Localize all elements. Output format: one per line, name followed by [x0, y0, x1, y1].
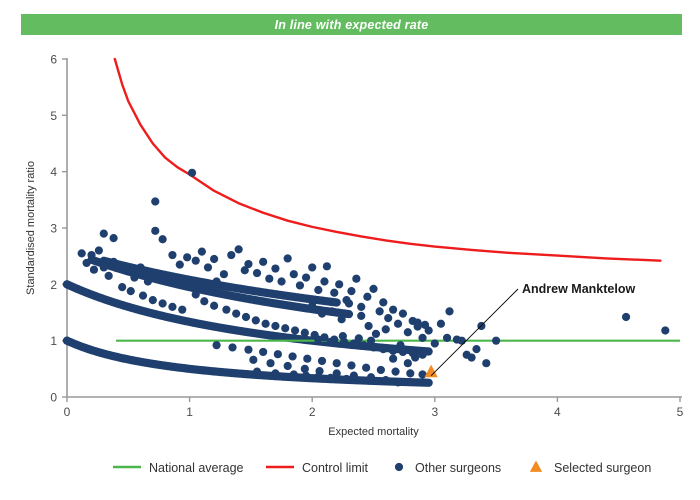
scatter-point[interactable]	[303, 355, 311, 363]
chart-legend: National averageControl limitOther surge…	[113, 461, 651, 476]
y-tick-label: 6	[50, 53, 57, 67]
scatter-point[interactable]	[437, 320, 445, 328]
control-limit-curve	[115, 59, 661, 261]
scatter-point[interactable]	[124, 266, 132, 274]
scatter-point[interactable]	[389, 306, 397, 314]
scatter-point[interactable]	[458, 337, 466, 345]
scatter-point[interactable]	[242, 313, 250, 321]
scatter-point[interactable]	[418, 334, 426, 342]
scatter-point[interactable]	[198, 248, 206, 256]
scatter-point[interactable]	[411, 353, 419, 361]
scatter-point[interactable]	[188, 169, 196, 177]
scatter-point[interactable]	[367, 373, 375, 381]
legend-item[interactable]: Control limit	[266, 461, 369, 475]
scatter-point[interactable]	[271, 322, 279, 330]
scatter-point[interactable]	[249, 356, 257, 364]
scatter-point[interactable]	[271, 264, 279, 272]
scatter-point[interactable]	[347, 287, 355, 295]
scatter-point[interactable]	[389, 347, 397, 355]
scatter-point[interactable]	[391, 368, 399, 376]
scatter-point[interactable]	[178, 306, 186, 314]
legend-item-label: Control limit	[302, 461, 369, 475]
scatter-point[interactable]	[399, 310, 407, 318]
scatter-point[interactable]	[335, 280, 343, 288]
scatter-bands	[67, 260, 429, 383]
scatter-point[interactable]	[63, 280, 71, 288]
scatter-point[interactable]	[244, 346, 252, 354]
scatter-point[interactable]	[176, 261, 184, 269]
scatter-point[interactable]	[326, 338, 334, 346]
scatter-point[interactable]	[95, 246, 103, 254]
scatter-point[interactable]	[222, 306, 230, 314]
scatter-point[interactable]	[308, 263, 316, 271]
scatter-point[interactable]	[271, 369, 279, 377]
x-tick-label: 0	[64, 405, 71, 419]
scatter-point[interactable]	[266, 359, 274, 367]
scatter-point[interactable]	[168, 303, 176, 311]
scatter-point[interactable]	[414, 319, 422, 327]
annotation-leader-line	[431, 289, 518, 376]
scatter-point[interactable]	[318, 357, 326, 365]
scatter-point[interactable]	[244, 260, 252, 268]
scatter-point[interactable]	[136, 263, 144, 271]
scatter-point[interactable]	[259, 258, 267, 266]
scatter-point[interactable]	[127, 287, 135, 295]
x-tick-label: 4	[554, 405, 561, 419]
scatter-point[interactable]	[467, 353, 475, 361]
scatter-point[interactable]	[210, 255, 218, 263]
scatter-point[interactable]	[362, 364, 370, 372]
scatter-point[interactable]	[394, 378, 402, 386]
scatter-point[interactable]	[382, 325, 390, 333]
scatter-point[interactable]	[328, 307, 336, 315]
scatter-point[interactable]	[389, 355, 397, 363]
annotation-callout: Andrew Manktelow	[431, 282, 635, 376]
y-tick-label: 2	[50, 278, 57, 292]
scatter-point[interactable]	[369, 285, 377, 293]
scatter-point[interactable]	[472, 345, 480, 353]
scatter-point[interactable]	[212, 341, 220, 349]
y-tick-label: 4	[50, 165, 57, 179]
scatter-point[interactable]	[274, 350, 282, 358]
scatter-point[interactable]	[443, 334, 451, 342]
x-axis-title: Expected mortality	[328, 426, 419, 438]
scatter-point[interactable]	[168, 251, 176, 259]
scatter-point[interactable]	[492, 337, 500, 345]
legend-item[interactable]: National average	[113, 461, 244, 475]
scatter-point[interactable]	[314, 335, 322, 343]
scatter-point[interactable]	[345, 299, 353, 307]
scatter-point[interactable]	[314, 373, 322, 381]
scatter-point[interactable]	[308, 302, 316, 310]
scatter-point[interactable]	[367, 337, 375, 345]
y-tick-label: 1	[50, 334, 57, 348]
scatter-point[interactable]	[232, 310, 240, 318]
scatter-point[interactable]	[360, 341, 368, 349]
scatter-point[interactable]	[78, 249, 86, 257]
scatter-point[interactable]	[204, 263, 212, 271]
scatter-point[interactable]	[290, 370, 298, 378]
chart-svg: 0123456012345Expected mortalityStandardi…	[0, 0, 700, 500]
scatter-point[interactable]	[149, 296, 157, 304]
scatter-point[interactable]	[265, 275, 273, 283]
scatter-point[interactable]	[372, 330, 380, 338]
scatter-point[interactable]	[281, 324, 289, 332]
x-tick-label: 2	[309, 405, 316, 419]
scatter-point[interactable]	[333, 359, 341, 367]
scatter-point[interactable]	[159, 299, 167, 307]
scatter-point[interactable]	[338, 315, 346, 323]
annotation-label: Andrew Manktelow	[522, 282, 635, 296]
scatter-point[interactable]	[418, 351, 426, 359]
scatter-point[interactable]	[357, 312, 365, 320]
scatter-point[interactable]	[159, 235, 167, 243]
scatter-point[interactable]	[109, 234, 117, 242]
x-tick-label: 3	[431, 405, 438, 419]
scatter-point[interactable]	[235, 245, 243, 253]
scatter-point[interactable]	[342, 375, 350, 383]
scatter-point[interactable]	[376, 307, 384, 315]
scatter-point[interactable]	[228, 343, 236, 351]
scatter-point[interactable]	[301, 329, 309, 337]
legend-item-label: Other surgeons	[415, 461, 501, 475]
scatter-point[interactable]	[379, 298, 387, 306]
scatter-point[interactable]	[139, 292, 147, 300]
scatter-point[interactable]	[382, 376, 390, 384]
scatter-point[interactable]	[394, 320, 402, 328]
legend-item[interactable]: Other surgeons	[395, 461, 501, 475]
scatter-point[interactable]	[288, 352, 296, 360]
legend-item[interactable]: Selected surgeon	[530, 461, 652, 476]
scatter-point[interactable]	[87, 251, 95, 259]
scatter-point[interactable]	[252, 316, 260, 324]
funnel-plot: 0123456012345Expected mortalityStandardi…	[0, 0, 700, 500]
scatter-point[interactable]	[259, 348, 267, 356]
scatter-point[interactable]	[192, 257, 200, 265]
scatter-point[interactable]	[291, 326, 299, 334]
scatter-point[interactable]	[661, 326, 669, 334]
scatter-point[interactable]	[109, 258, 117, 266]
scatter-point[interactable]	[83, 259, 91, 267]
y-tick-label: 0	[50, 391, 57, 405]
scatter-point[interactable]	[183, 253, 191, 261]
scatter-point[interactable]	[130, 273, 138, 281]
scatter-point[interactable]	[100, 230, 108, 238]
scatter-point[interactable]	[144, 277, 152, 285]
scatter-point[interactable]	[365, 322, 373, 330]
y-tick-label: 3	[50, 222, 57, 236]
scatter-point[interactable]	[105, 272, 113, 280]
legend-item-label: National average	[149, 461, 244, 475]
scatter-point[interactable]	[404, 328, 412, 336]
scatter-point[interactable]	[290, 270, 298, 278]
scatter-point[interactable]	[323, 262, 331, 270]
scatter-point[interactable]	[212, 277, 220, 285]
scatter-point[interactable]	[220, 270, 228, 278]
scatter-point[interactable]	[445, 307, 453, 315]
scatter-point[interactable]	[379, 345, 387, 353]
scatter-point[interactable]	[421, 321, 429, 329]
scatter-point[interactable]	[384, 314, 392, 322]
scatter-point[interactable]	[151, 227, 159, 235]
scatter-point[interactable]	[482, 359, 490, 367]
control-limit-line	[115, 59, 661, 261]
scatter-point[interactable]	[284, 362, 292, 370]
scatter-point[interactable]	[314, 286, 322, 294]
scatter-point[interactable]	[253, 368, 261, 376]
scatter-point[interactable]	[277, 277, 285, 285]
legend-circle-marker	[395, 463, 403, 471]
scatter-point[interactable]	[90, 266, 98, 274]
scatter-point[interactable]	[377, 366, 385, 374]
scatter-point[interactable]	[151, 197, 159, 205]
scatter-point[interactable]	[302, 371, 310, 379]
scatter-point[interactable]	[363, 293, 371, 301]
scatter-point[interactable]	[200, 297, 208, 305]
scatter-point[interactable]	[100, 263, 108, 271]
scatter-point[interactable]	[318, 310, 326, 318]
scatter-point[interactable]	[253, 269, 261, 277]
scatter-point[interactable]	[284, 254, 292, 262]
scatter-point[interactable]	[210, 302, 218, 310]
scatter-point[interactable]	[326, 374, 334, 382]
chart-page: In line with expected rate 0123456012345…	[0, 0, 700, 500]
scatter-point[interactable]	[63, 337, 71, 345]
scatter-point[interactable]	[418, 370, 426, 378]
x-tick-label: 5	[677, 405, 684, 419]
legend-item-label: Selected surgeon	[554, 461, 651, 475]
scatter-point[interactable]	[320, 277, 328, 285]
scatter-point[interactable]	[404, 359, 412, 367]
scatter-point[interactable]	[357, 303, 365, 311]
y-tick-label: 5	[50, 109, 57, 123]
scatter-point[interactable]	[262, 320, 270, 328]
scatter-point[interactable]	[622, 313, 630, 321]
scatter-point[interactable]	[296, 281, 304, 289]
scatter-point[interactable]	[118, 283, 126, 291]
scatter-point[interactable]	[347, 361, 355, 369]
scatter-point[interactable]	[352, 275, 360, 283]
scatter-point[interactable]	[355, 334, 363, 342]
y-axis-title: Standardised mortality ratio	[25, 161, 37, 295]
scatter-point[interactable]	[302, 273, 310, 281]
scatter-point[interactable]	[350, 371, 358, 379]
scatter-point[interactable]	[431, 339, 439, 347]
scatter-point[interactable]	[330, 289, 338, 297]
scatter-point[interactable]	[396, 341, 404, 349]
scatter-point[interactable]	[339, 332, 347, 340]
x-tick-label: 1	[186, 405, 193, 419]
scatter-point[interactable]	[192, 290, 200, 298]
scatter-point[interactable]	[227, 251, 235, 259]
scatter-point[interactable]	[406, 369, 414, 377]
legend-triangle-marker	[530, 461, 542, 472]
